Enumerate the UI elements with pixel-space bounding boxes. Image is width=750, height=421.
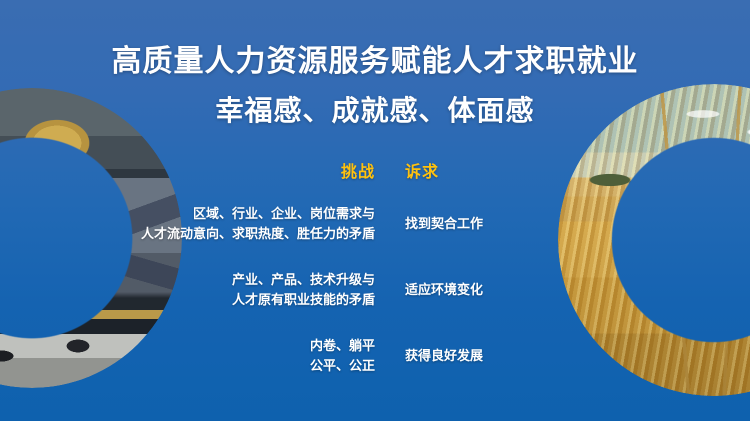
challenge-cell: 区域、行业、企业、岗位需求与 人才流动意向、求职热度、胜任力的矛盾: [140, 204, 405, 244]
right-ring-photo-surface: [558, 84, 750, 396]
challenge-text-line-1: 内卷、躺平: [140, 336, 375, 356]
headline-block: 高质量人力资源服务赋能人才求职就业 幸福感、成就感、体面感: [0, 44, 750, 128]
demand-text: 获得良好发展: [405, 346, 560, 366]
content-block: 挑战 诉求 区域、行业、企业、岗位需求与 人才流动意向、求职热度、胜任力的矛盾 …: [140, 158, 560, 376]
challenge-text-line-1: 产业、产品、技术升级与: [140, 270, 375, 290]
challenge-text-line-2: 公平、公正: [140, 356, 375, 376]
demand-text: 适应环境变化: [405, 280, 560, 300]
demand-cell: 适应环境变化: [405, 280, 560, 300]
demand-cell: 获得良好发展: [405, 346, 560, 366]
content-row: 内卷、躺平 公平、公正 获得良好发展: [140, 336, 560, 376]
challenge-text-line-2: 人才原有职业技能的矛盾: [140, 290, 375, 310]
column-header-challenge: 挑战: [140, 158, 405, 182]
demand-text: 找到契合工作: [405, 214, 560, 234]
content-row: 区域、行业、企业、岗位需求与 人才流动意向、求职热度、胜任力的矛盾 找到契合工作: [140, 204, 560, 244]
column-header-demand: 诉求: [405, 158, 560, 182]
headline-line-1: 高质量人力资源服务赋能人才求职就业: [0, 44, 750, 80]
demand-cell: 找到契合工作: [405, 214, 560, 234]
slide-canvas: 高质量人力资源服务赋能人才求职就业 幸福感、成就感、体面感 挑战 诉求 区域、行…: [0, 0, 750, 421]
column-headers-row: 挑战 诉求: [140, 158, 560, 182]
challenge-cell: 产业、产品、技术升级与 人才原有职业技能的矛盾: [140, 270, 405, 310]
right-ring-photo-wheat-field: [558, 84, 750, 396]
content-row: 产业、产品、技术升级与 人才原有职业技能的矛盾 适应环境变化: [140, 270, 560, 310]
headline-line-2: 幸福感、成就感、体面感: [0, 94, 750, 128]
challenge-text-line-1: 区域、行业、企业、岗位需求与: [140, 204, 375, 224]
challenge-cell: 内卷、躺平 公平、公正: [140, 336, 405, 376]
challenge-text-line-2: 人才流动意向、求职热度、胜任力的矛盾: [140, 224, 375, 244]
